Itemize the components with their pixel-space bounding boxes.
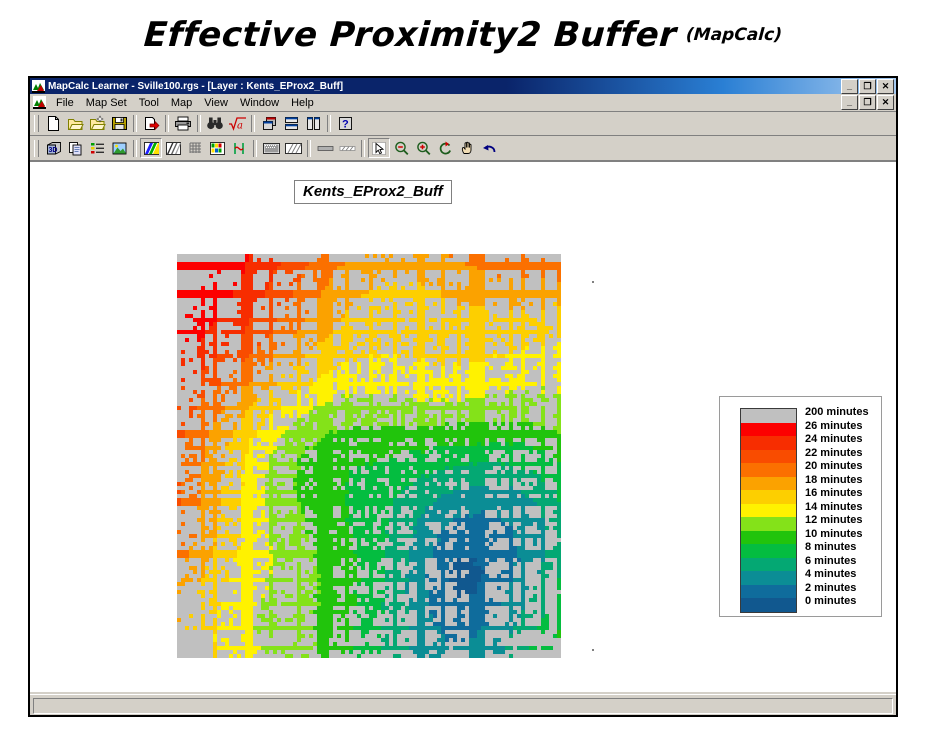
legend-swatch (741, 504, 796, 518)
legend-swatch (741, 558, 796, 572)
toolbar-separator (133, 140, 137, 157)
legend-label-column: 200 minutes26 minutes24 minutes22 minute… (805, 406, 869, 609)
toolbar-separator (251, 115, 255, 132)
flat-bar-icon[interactable] (314, 138, 336, 158)
legend-label: 12 minutes (805, 514, 869, 528)
legend-label: 0 minutes (805, 595, 869, 609)
map-legend-panel: 200 minutes26 minutes24 minutes22 minute… (719, 396, 882, 617)
legend-label: 200 minutes (805, 406, 869, 420)
legend-swatch (741, 517, 796, 531)
legend-list-icon[interactable] (86, 138, 108, 158)
legend-label: 4 minutes (805, 568, 869, 582)
menu-item-map[interactable]: Map (165, 96, 198, 110)
page-heading: Effective Proximity2 Buffer (MapCalc) (0, 0, 926, 70)
client-dot-mark-bottom (592, 649, 594, 651)
shade-light-icon[interactable] (260, 138, 282, 158)
secondary-toolbar: 3D (30, 136, 896, 161)
map-document-client-area: Kents_EProx2_Buff 200 minutes26 minutes2… (30, 161, 896, 692)
three-d-view-icon[interactable]: 3D (42, 138, 64, 158)
primary-toolbar: a (30, 112, 896, 136)
menu-bar: File Map Set Tool Map View Window Help _… (30, 94, 896, 112)
window-title-bar[interactable]: MapCalc Learner - Sville100.rgs - [Layer… (30, 78, 896, 94)
printer-icon[interactable] (172, 114, 194, 134)
toolbar-separator (133, 115, 137, 132)
save-disk-icon[interactable] (108, 114, 130, 134)
status-bar-panel (33, 698, 893, 714)
menu-item-window[interactable]: Window (234, 96, 285, 110)
legend-label: 6 minutes (805, 555, 869, 569)
legend-label: 22 minutes (805, 447, 869, 461)
rotate-icon[interactable] (434, 138, 456, 158)
zoom-in-icon[interactable] (412, 138, 434, 158)
legend-label: 14 minutes (805, 501, 869, 515)
menu-item-view[interactable]: View (198, 96, 234, 110)
legend-swatch (741, 531, 796, 545)
legend-swatch (741, 477, 796, 491)
pan-hand-icon[interactable] (456, 138, 478, 158)
raster-map-display[interactable] (177, 254, 561, 658)
legend-swatch (741, 450, 796, 464)
mapcalc-application-window: MapCalc Learner - Sville100.rgs - [Layer… (28, 76, 898, 717)
contour-icon[interactable] (228, 138, 250, 158)
sqrt-alpha-icon[interactable]: a (226, 114, 248, 134)
export-icon[interactable] (140, 114, 162, 134)
window-title-text: MapCalc Learner - Sville100.rgs - [Layer… (48, 81, 343, 92)
cascade-windows-icon[interactable] (258, 114, 280, 134)
zoom-out-icon[interactable] (390, 138, 412, 158)
minimize-button[interactable]: _ (841, 79, 858, 94)
color-ramp-icon[interactable] (140, 138, 162, 158)
color-blocks-icon[interactable] (206, 138, 228, 158)
child-restore-button[interactable]: ❐ (859, 95, 876, 110)
legend-swatch (741, 436, 796, 450)
legend-swatch (741, 571, 796, 585)
menu-item-file[interactable]: File (50, 96, 80, 110)
document-icon[interactable] (33, 96, 46, 109)
menu-item-help[interactable]: Help (285, 96, 320, 110)
toolbar-grip[interactable] (34, 115, 39, 132)
legend-swatch (741, 423, 796, 437)
open-folder-icon[interactable] (64, 114, 86, 134)
open-new-folder-icon[interactable] (86, 114, 108, 134)
new-file-icon[interactable] (42, 114, 64, 134)
legend-label: 10 minutes (805, 528, 869, 542)
svg-text:a: a (237, 121, 243, 132)
toolbar-separator (327, 115, 331, 132)
map-document-title: Kents_EProx2_Buff (294, 180, 452, 204)
child-minimize-button[interactable]: _ (841, 95, 858, 110)
legend-swatch-column (740, 408, 797, 613)
heading-main-text: Effective Proximity2 Buffer (143, 15, 678, 55)
legend-label: 26 minutes (805, 420, 869, 434)
mapcalc-app-icon[interactable] (32, 80, 45, 93)
toolbar-separator (197, 115, 201, 132)
legend-swatch (741, 409, 796, 423)
tile-horizontal-icon[interactable] (280, 114, 302, 134)
svg-text:?: ? (342, 119, 349, 131)
toolbar-separator (307, 140, 311, 157)
legend-label: 18 minutes (805, 474, 869, 488)
restore-button[interactable]: ❐ (859, 79, 876, 94)
legend-label: 24 minutes (805, 433, 869, 447)
status-bar (30, 694, 896, 715)
toolbar-separator (361, 140, 365, 157)
window-controls[interactable]: _ ❐ ✕ (841, 79, 894, 94)
grayscale-ramp-icon[interactable] (162, 138, 184, 158)
binoculars-icon[interactable] (204, 114, 226, 134)
hatch-bar-icon[interactable] (336, 138, 358, 158)
legend-swatch (741, 544, 796, 558)
legend-swatch (741, 598, 796, 612)
heading-sub-text: (MapCalc) (685, 25, 782, 45)
child-close-button[interactable]: ✕ (877, 95, 894, 110)
close-button[interactable]: ✕ (877, 79, 894, 94)
menu-item-tool[interactable]: Tool (133, 96, 165, 110)
menu-item-map-set[interactable]: Map Set (80, 96, 133, 110)
toolbar-separator (253, 140, 257, 157)
image-picture-icon[interactable] (108, 138, 130, 158)
toolbar-separator (165, 115, 169, 132)
grid-mesh-icon[interactable] (184, 138, 206, 158)
arrow-select-icon[interactable] (368, 138, 390, 158)
svg-text:3D: 3D (48, 147, 57, 154)
copy-pages-icon[interactable] (64, 138, 86, 158)
tile-vertical-icon[interactable] (302, 114, 324, 134)
legend-label: 8 minutes (805, 541, 869, 555)
toolbar-grip[interactable] (34, 140, 39, 157)
legend-label: 20 minutes (805, 460, 869, 474)
mdi-child-window-controls[interactable]: _ ❐ ✕ (841, 95, 894, 110)
shade-hatch-icon[interactable] (282, 138, 304, 158)
undo-arrow-icon[interactable] (478, 138, 500, 158)
legend-swatch (741, 463, 796, 477)
client-dot-mark-top (592, 281, 594, 283)
legend-label: 16 minutes (805, 487, 869, 501)
help-question-icon[interactable]: ? (334, 114, 356, 134)
legend-swatch (741, 585, 796, 599)
legend-label: 2 minutes (805, 582, 869, 596)
legend-swatch (741, 490, 796, 504)
